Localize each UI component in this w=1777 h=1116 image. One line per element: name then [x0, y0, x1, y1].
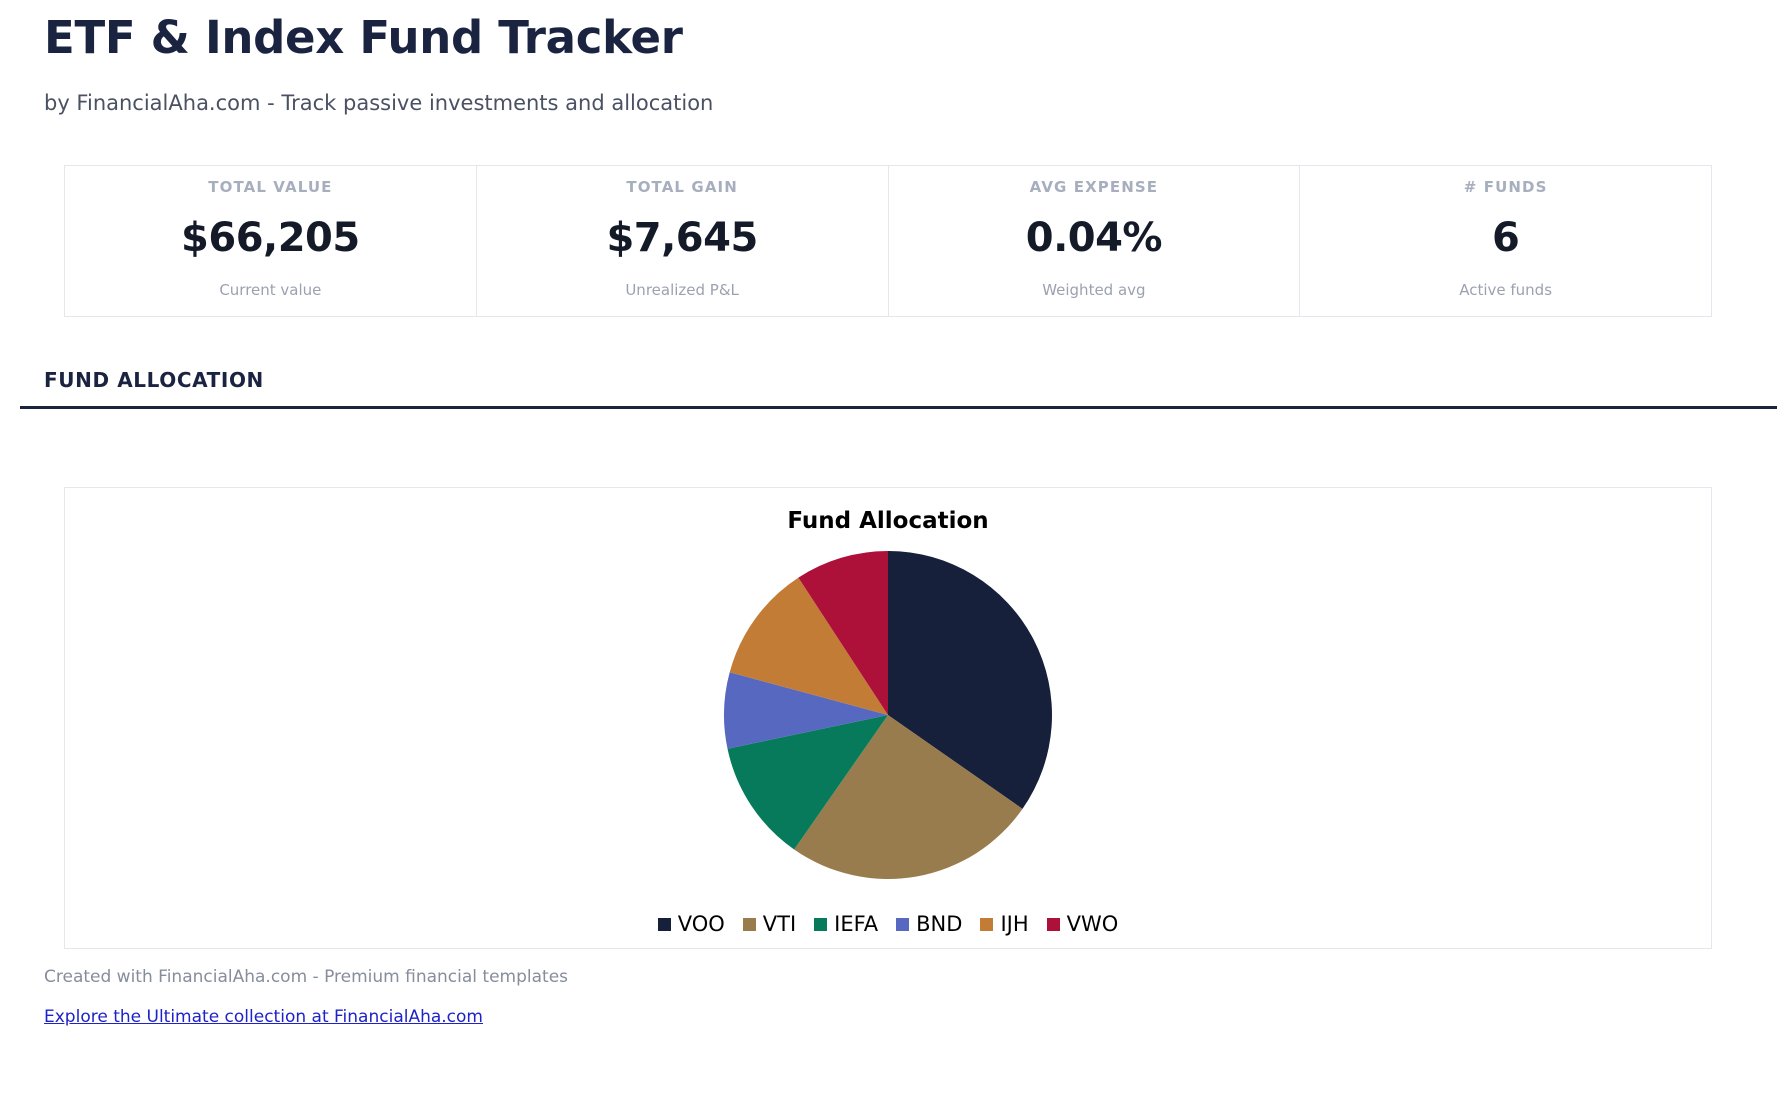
stat-sublabel: Unrealized P&L [625, 283, 739, 298]
legend-swatch-icon [980, 918, 993, 931]
legend-item-ijh[interactable]: IJH [980, 914, 1028, 935]
legend-item-iefa[interactable]: IEFA [814, 914, 878, 935]
stat-label: TOTAL GAIN [626, 180, 738, 195]
stat-value: 6 [1492, 218, 1519, 258]
stat-value: $66,205 [181, 218, 360, 258]
legend-swatch-icon [743, 918, 756, 931]
chart-title: Fund Allocation [65, 488, 1711, 533]
legend-label: IEFA [834, 914, 878, 935]
stat-label: AVG EXPENSE [1030, 180, 1159, 195]
legend-item-bnd[interactable]: BND [896, 914, 962, 935]
legend-swatch-icon [814, 918, 827, 931]
legend-label: BND [916, 914, 962, 935]
legend-swatch-icon [896, 918, 909, 931]
legend-label: IJH [1000, 914, 1028, 935]
chart-legend: VOOVTIIEFABNDIJHVWO [65, 914, 1711, 935]
legend-swatch-icon [1047, 918, 1060, 931]
stat-sublabel: Current value [219, 283, 321, 298]
legend-label: VTI [763, 914, 796, 935]
legend-swatch-icon [658, 918, 671, 931]
chart-panel-fund-allocation: Fund Allocation VOOVTIIEFABNDIJHVWO [64, 487, 1712, 949]
section-header-fund-allocation: FUND ALLOCATION [44, 370, 1733, 424]
stat-label: # FUNDS [1464, 180, 1548, 195]
stat-card-total-value: TOTAL VALUE $66,205 Current value [65, 166, 477, 316]
legend-item-voo[interactable]: VOO [658, 914, 725, 935]
legend-item-vti[interactable]: VTI [743, 914, 796, 935]
legend-label: VOO [678, 914, 725, 935]
stat-value: 0.04% [1026, 218, 1162, 258]
legend-item-vwo[interactable]: VWO [1047, 914, 1119, 935]
footer-note: Created with FinancialAha.com - Premium … [44, 967, 1733, 987]
pie-chart [65, 550, 1711, 880]
stat-value: $7,645 [606, 218, 757, 258]
legend-label: VWO [1067, 914, 1119, 935]
stat-sublabel: Active funds [1459, 283, 1552, 298]
stat-sublabel: Weighted avg [1042, 283, 1145, 298]
stat-card-avg-expense: AVG EXPENSE 0.04% Weighted avg [889, 166, 1301, 316]
pie-chart-svg [723, 550, 1053, 880]
section-divider [20, 406, 1777, 409]
stat-card-num-funds: # FUNDS 6 Active funds [1300, 166, 1711, 316]
stats-strip: TOTAL VALUE $66,205 Current value TOTAL … [64, 165, 1712, 317]
page-root: ETF & Index Fund Tracker by FinancialAha… [0, 0, 1777, 1116]
section-title: FUND ALLOCATION [44, 370, 1733, 390]
stat-card-total-gain: TOTAL GAIN $7,645 Unrealized P&L [477, 166, 889, 316]
page-subtitle: by FinancialAha.com - Track passive inve… [44, 66, 1733, 117]
stat-label: TOTAL VALUE [208, 180, 332, 195]
page-title: ETF & Index Fund Tracker [44, 0, 1733, 66]
footer-link[interactable]: Explore the Ultimate collection at Finan… [44, 1007, 483, 1027]
